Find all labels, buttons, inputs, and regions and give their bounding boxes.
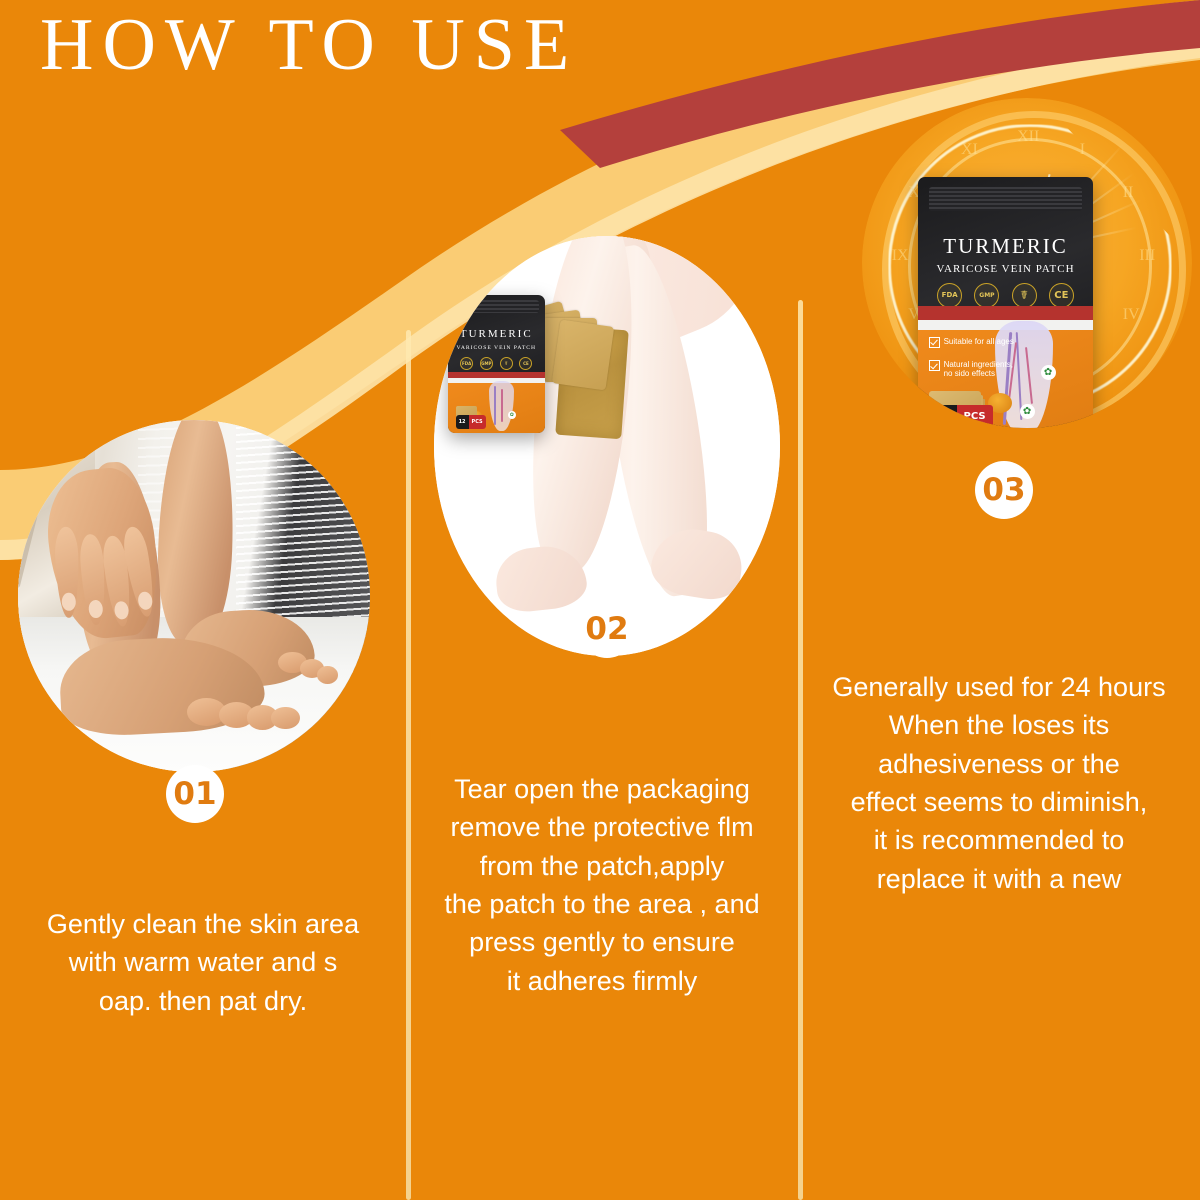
package-brand-small: TURMERIC <box>448 328 545 340</box>
step2-product-package: TURMERIC VARICOSE VEIN PATCH FDA GMP ☤ C… <box>448 295 545 434</box>
package-unit-small: PCS <box>469 415 486 429</box>
step2-photo: TURMERIC VARICOSE VEIN PATCH FDA GMP ☤ C… <box>434 236 780 656</box>
claim-1-text: Suitable for all ages <box>944 337 1014 346</box>
package-unit: PCS <box>957 405 993 428</box>
step3-product-package: TURMERIC VARICOSE VEIN PATCH FDA GMP ☤ C… <box>918 177 1093 428</box>
infographic-root: HOW TO USE 01 Gently clean the skin area… <box>0 0 1200 1200</box>
step2-caption: Tear open the packaging remove the prote… <box>404 770 800 1000</box>
package-claim-1: Suitable for all ages <box>929 337 1014 348</box>
step3-photo: XII I II III IV V VI VII VIII IX X XI TU… <box>862 98 1192 428</box>
step1-photo <box>18 420 370 772</box>
claim-2-text: Natural ingredients, no sido effects <box>944 360 1013 378</box>
package-count: 12 <box>929 405 957 428</box>
seal-ce-icon: CE <box>1049 283 1074 308</box>
package-brand: TURMERIC <box>918 234 1093 259</box>
column-divider-left <box>406 330 411 1200</box>
page-title: HOW TO USE <box>40 8 578 82</box>
step2-number-badge: 02 <box>578 600 636 658</box>
step3-caption: Generally used for 24 hours When the los… <box>800 668 1198 898</box>
package-subtitle: VARICOSE VEIN PATCH <box>918 263 1093 275</box>
step1-number-badge: 01 <box>166 765 224 823</box>
package-count-small: 12 <box>456 415 469 429</box>
seal-caduceus-icon: ☤ <box>1012 283 1037 308</box>
step1-caption: Gently clean the skin area with warm wat… <box>6 905 400 1020</box>
package-claim-2: Natural ingredients, no sido effects <box>929 360 1013 378</box>
package-subtitle-small: VARICOSE VEIN PATCH <box>448 345 545 351</box>
seal-gmp-icon: GMP <box>974 283 999 308</box>
step3-number-badge: 03 <box>975 461 1033 519</box>
seal-fda-icon: FDA <box>937 283 962 308</box>
